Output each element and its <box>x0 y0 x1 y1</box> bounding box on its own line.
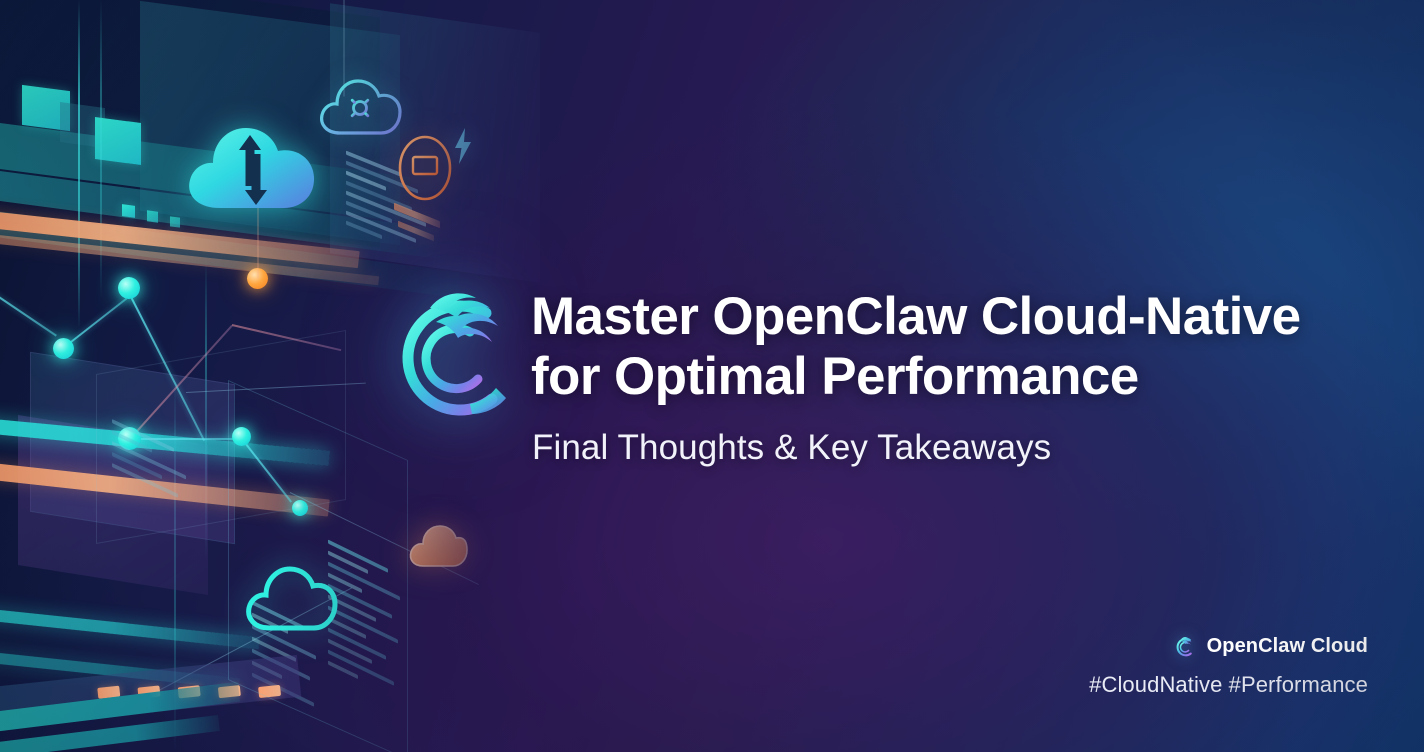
monitor-circle-icon <box>392 132 458 204</box>
network-node <box>53 338 74 359</box>
decor-square <box>170 216 180 227</box>
hashtags: #CloudNative #Performance <box>1089 672 1368 698</box>
openclaw-c-logo-icon <box>1171 633 1198 660</box>
hero-banner: Master OpenClaw Cloud-Native for Optimal… <box>0 0 1424 752</box>
decor-bar-cyan <box>0 603 260 649</box>
network-node <box>118 277 140 299</box>
brand-name: OpenClaw Cloud <box>1207 635 1368 658</box>
page-subtitle: Final Thoughts & Key Takeaways <box>532 428 1051 468</box>
headline-line-1: Master OpenClaw Cloud-Native <box>531 287 1341 347</box>
cloud-filled-orange-icon <box>407 518 469 574</box>
decor-line <box>78 0 80 330</box>
cloud-gear-icon <box>316 68 404 144</box>
brand-row: OpenClaw Cloud <box>1171 633 1368 660</box>
page-title: Master OpenClaw Cloud-Native for Optimal… <box>531 287 1341 407</box>
cloud-sync-icon <box>182 104 327 226</box>
openclaw-logo-icon <box>366 268 538 440</box>
headline-line-2: for Optimal Performance <box>531 347 1341 407</box>
network-link <box>0 290 57 336</box>
lightning-bolt-icon <box>452 128 474 164</box>
decor-square <box>147 210 158 222</box>
decor-square <box>122 204 135 218</box>
